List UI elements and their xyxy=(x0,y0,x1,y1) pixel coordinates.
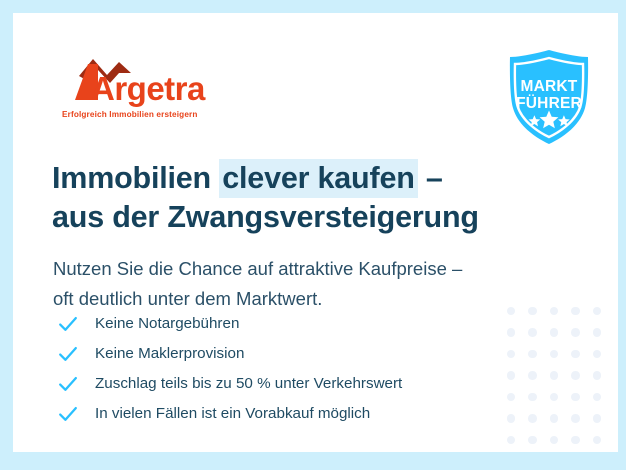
benefits-list: Keine NotargebührenKeine Maklerprovision… xyxy=(57,309,527,429)
badge-line2: FÜHRER xyxy=(516,95,582,112)
benefit-item: Zuschlag teils bis zu 50 % unter Verkehr… xyxy=(57,369,527,399)
check-icon xyxy=(57,373,79,395)
svg-text:Argetra: Argetra xyxy=(91,70,206,107)
decorative-dot xyxy=(550,414,559,423)
decorative-dot xyxy=(528,393,537,402)
promo-banner: Argetra Erfolgreich Immobilien ersteiger… xyxy=(0,0,626,470)
decorative-dot xyxy=(550,371,559,380)
headline-highlight: clever kaufen xyxy=(219,159,417,198)
decorative-dot xyxy=(550,436,559,445)
subtitle-line2: oft deutlich unter dem Marktwert. xyxy=(53,288,322,309)
subtitle: Nutzen Sie die Chance auf attraktive Kau… xyxy=(53,254,573,314)
decorative-dot xyxy=(528,436,537,445)
benefit-item: Keine Maklerprovision xyxy=(57,339,527,369)
decorative-dot xyxy=(593,328,602,337)
decorative-dot xyxy=(593,350,602,359)
benefit-item: Keine Notargebühren xyxy=(57,309,527,339)
decorative-dot xyxy=(528,350,537,359)
argetra-logo-mark: Argetra xyxy=(57,56,217,112)
banner-card: Argetra Erfolgreich Immobilien ersteiger… xyxy=(13,13,618,452)
benefit-label: In vielen Fällen ist ein Vorabkauf mögli… xyxy=(95,406,370,421)
decorative-dot xyxy=(571,350,580,359)
decorative-dot xyxy=(593,393,602,402)
market-leader-badge: MARKT FÜHRER xyxy=(502,48,596,147)
decorative-dot xyxy=(528,414,537,423)
logo-tagline: Erfolgreich Immobilien ersteigern xyxy=(62,110,198,119)
badge-line1: MARKT xyxy=(521,78,578,95)
decorative-dot xyxy=(571,436,580,445)
headline-line1: Immobilien clever kaufen – xyxy=(52,159,443,198)
check-icon xyxy=(57,403,79,425)
benefit-item: In vielen Fällen ist ein Vorabkauf mögli… xyxy=(57,399,527,429)
decorative-dot xyxy=(550,393,559,402)
benefit-label: Keine Notargebühren xyxy=(95,316,239,331)
decorative-dot xyxy=(507,436,516,445)
headline-line2: aus der Zwangsversteigerung xyxy=(52,200,479,234)
shield-badge-icon: MARKT FÜHRER xyxy=(502,48,596,147)
subtitle-line1: Nutzen Sie die Chance auf attraktive Kau… xyxy=(53,258,462,279)
headline-prefix: Immobilien xyxy=(52,161,219,195)
decorative-dot xyxy=(593,307,602,316)
decorative-dot xyxy=(528,371,537,380)
decorative-dot xyxy=(571,393,580,402)
decorative-dot xyxy=(593,414,602,423)
headline-suffix: – xyxy=(418,161,443,195)
decorative-dot xyxy=(571,371,580,380)
decorative-dot xyxy=(593,371,602,380)
benefit-label: Keine Maklerprovision xyxy=(95,346,244,361)
decorative-dot xyxy=(528,328,537,337)
check-icon xyxy=(57,313,79,335)
decorative-dot xyxy=(550,328,559,337)
decorative-dot xyxy=(550,350,559,359)
page-title: Immobilien clever kaufen – aus der Zwang… xyxy=(52,159,572,237)
check-icon xyxy=(57,343,79,365)
decorative-dot xyxy=(571,328,580,337)
decorative-dot xyxy=(593,436,602,445)
benefit-label: Zuschlag teils bis zu 50 % unter Verkehr… xyxy=(95,376,402,391)
decorative-dot xyxy=(571,414,580,423)
argetra-logo[interactable]: Argetra Erfolgreich Immobilien ersteiger… xyxy=(57,56,217,124)
